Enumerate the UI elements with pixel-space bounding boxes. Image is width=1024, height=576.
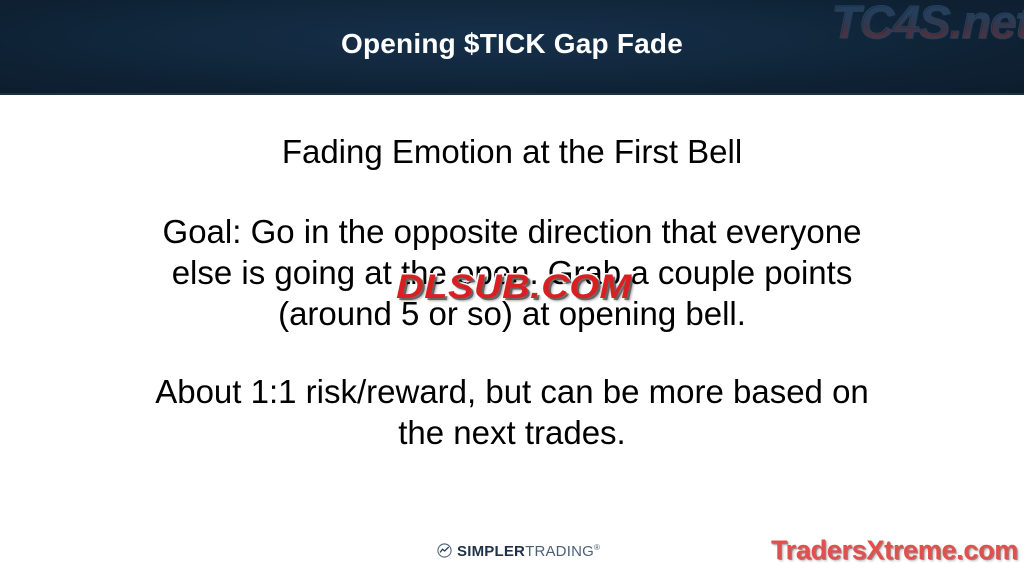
body-line: the next trades. (112, 412, 912, 453)
body-line: Goal: Go in the opposite direction that … (112, 211, 912, 252)
body-line: About 1:1 risk/reward, but can be more b… (112, 371, 912, 412)
logo-trademark-symbol: ® (594, 543, 600, 552)
simpler-trading-wordmark: SIMPLERTRADING® (457, 540, 600, 560)
simpler-trading-logo: SIMPLERTRADING® (437, 540, 600, 560)
page-title: Opening $TICK Gap Fade (0, 28, 1024, 60)
body-paragraph-1: Fading Emotion at the First Bell (112, 131, 912, 172)
body-line: (around 5 or so) at opening bell. (112, 293, 912, 334)
body-paragraph-3: About 1:1 risk/reward, but can be more b… (112, 371, 912, 453)
header-bar: Opening $TICK Gap Fade TC4S.net (0, 0, 1024, 95)
chart-line-circle-icon (437, 543, 452, 558)
body-line: Fading Emotion at the First Bell (112, 131, 912, 172)
logo-text-trading: TRADING (525, 543, 594, 560)
body-paragraph-2: Goal: Go in the opposite direction that … (112, 211, 912, 334)
slide-canvas: Opening $TICK Gap Fade TC4S.net Fading E… (0, 0, 1024, 576)
logo-text-simpler: SIMPLER (457, 543, 525, 560)
slide-body: Fading Emotion at the First Bell Goal: G… (0, 95, 1024, 576)
body-line: else is going at the open. Grab a couple… (112, 252, 912, 293)
